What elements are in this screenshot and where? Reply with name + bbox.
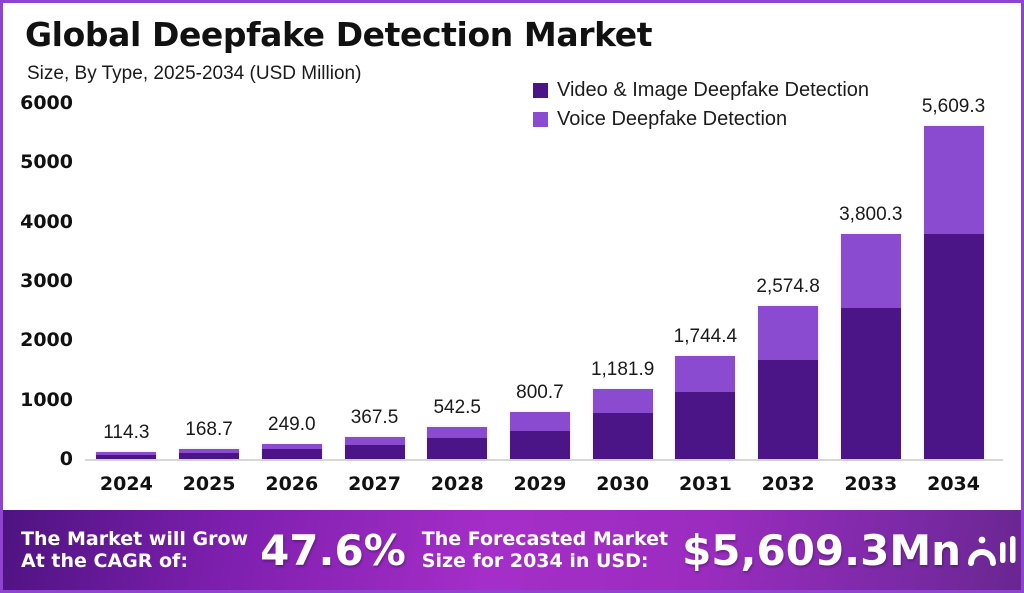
bar-value-label: 542.5 xyxy=(433,397,481,419)
bar-group[interactable]: 2,574.8 xyxy=(756,103,821,459)
y-axis-tick: 4000 xyxy=(20,211,73,233)
page-title: Global Deepfake Detection Market xyxy=(25,15,652,54)
bar-segment-video-image[interactable] xyxy=(510,431,570,460)
bar-stack[interactable] xyxy=(924,126,984,459)
bar-value-label: 168.7 xyxy=(185,419,233,441)
bar-segment-voice[interactable] xyxy=(427,427,487,438)
x-axis-tick: 2027 xyxy=(342,473,407,503)
y-axis-tick: 3000 xyxy=(20,270,73,292)
bar-segment-voice[interactable] xyxy=(675,356,735,392)
forecast-caption-line2: Size for 2034 in USD: xyxy=(422,550,668,572)
infographic-card: Global Deepfake Detection Market Size, B… xyxy=(0,0,1024,593)
bar-group[interactable]: 367.5 xyxy=(342,103,407,459)
cagr-value: 47.6% xyxy=(260,526,406,575)
bar-group[interactable]: 249.0 xyxy=(259,103,324,459)
bar-stack[interactable] xyxy=(262,444,322,459)
bar-segment-video-image[interactable] xyxy=(427,438,487,459)
bar-series-container: 114.3168.7249.0367.5542.5800.71,181.91,7… xyxy=(85,103,995,459)
x-axis: 2024202520262027202820292030203120322033… xyxy=(85,473,995,503)
legend-item-video-image: Video & Image Deepfake Detection xyxy=(533,79,869,102)
bar-value-label: 1,744.4 xyxy=(674,326,737,348)
wave-chart-icon xyxy=(967,533,1021,567)
bar-stack[interactable] xyxy=(96,452,156,459)
legend-label-video-image: Video & Image Deepfake Detection xyxy=(557,79,869,102)
bar-segment-video-image[interactable] xyxy=(345,445,405,459)
bar-segment-voice[interactable] xyxy=(345,437,405,445)
bar-segment-voice[interactable] xyxy=(924,126,984,233)
y-axis-tick: 2000 xyxy=(20,329,73,351)
bar-value-label: 5,609.3 xyxy=(922,96,985,118)
cagr-caption: The Market will Grow At the CAGR of: xyxy=(21,528,248,573)
x-axis-tick: 2025 xyxy=(177,473,242,503)
bar-segment-voice[interactable] xyxy=(593,389,653,413)
bar-group[interactable]: 1,181.9 xyxy=(590,103,655,459)
bar-segment-video-image[interactable] xyxy=(841,308,901,459)
bar-segment-video-image[interactable] xyxy=(262,449,322,459)
x-axis-tick: 2033 xyxy=(839,473,904,503)
brand-logo: market.us ONE STOP SHOP FOR THE REPORTS xyxy=(967,528,1021,573)
y-axis-tick: 1000 xyxy=(20,389,73,411)
bar-value-label: 3,800.3 xyxy=(839,204,902,226)
bar-group[interactable]: 114.3 xyxy=(94,103,159,459)
bar-value-label: 249.0 xyxy=(268,414,316,436)
bar-value-label: 1,181.9 xyxy=(591,359,654,381)
bar-segment-video-image[interactable] xyxy=(675,392,735,459)
bar-value-label: 367.5 xyxy=(351,407,399,429)
y-axis-tick: 0 xyxy=(60,448,73,470)
bar-segment-voice[interactable] xyxy=(510,412,570,431)
bar-segment-video-image[interactable] xyxy=(179,453,239,460)
cagr-caption-line2: At the CAGR of: xyxy=(21,550,248,572)
plot-area: 114.3168.7249.0367.5542.5800.71,181.91,7… xyxy=(85,103,995,459)
x-axis-tick: 2032 xyxy=(756,473,821,503)
y-axis-tick: 6000 xyxy=(20,92,73,114)
bar-group[interactable]: 800.7 xyxy=(508,103,573,459)
bar-stack[interactable] xyxy=(841,234,901,459)
bar-value-label: 114.3 xyxy=(103,422,149,444)
bar-stack[interactable] xyxy=(758,306,818,459)
y-axis-tick: 5000 xyxy=(20,151,73,173)
bar-group[interactable]: 542.5 xyxy=(425,103,490,459)
bar-group[interactable]: 168.7 xyxy=(177,103,242,459)
bar-segment-video-image[interactable] xyxy=(758,360,818,459)
forecast-caption: The Forecasted Market Size for 2034 in U… xyxy=(422,528,668,573)
bar-stack[interactable] xyxy=(427,427,487,459)
footer-banner: The Market will Grow At the CAGR of: 47.… xyxy=(3,510,1021,590)
bar-stack[interactable] xyxy=(345,437,405,459)
x-axis-tick: 2028 xyxy=(425,473,490,503)
bar-stack[interactable] xyxy=(179,449,239,459)
legend-swatch-icon-video-image xyxy=(533,83,548,98)
forecast-caption-line1: The Forecasted Market xyxy=(422,528,668,550)
bar-stack[interactable] xyxy=(675,356,735,459)
bar-segment-voice[interactable] xyxy=(841,234,901,308)
x-axis-baseline xyxy=(85,459,1003,461)
cagr-caption-line1: The Market will Grow xyxy=(21,528,248,550)
bar-group[interactable]: 3,800.3 xyxy=(839,103,904,459)
bar-segment-video-image[interactable] xyxy=(593,413,653,459)
x-axis-tick: 2029 xyxy=(508,473,573,503)
x-axis-tick: 2031 xyxy=(673,473,738,503)
y-axis: 6000500040003000200010000 xyxy=(3,103,79,459)
x-axis-tick: 2026 xyxy=(259,473,324,503)
bar-group[interactable]: 1,744.4 xyxy=(673,103,738,459)
bar-value-label: 2,574.8 xyxy=(756,276,819,298)
forecast-value: $5,609.3Mn xyxy=(682,526,961,575)
chart-subtitle: Size, By Type, 2025-2034 (USD Million) xyxy=(27,63,361,85)
bar-segment-video-image[interactable] xyxy=(96,455,156,459)
bar-group[interactable]: 5,609.3 xyxy=(921,103,986,459)
x-axis-tick: 2024 xyxy=(94,473,159,503)
bar-segment-video-image[interactable] xyxy=(924,234,984,459)
bar-stack[interactable] xyxy=(593,389,653,459)
bar-value-label: 800.7 xyxy=(516,382,564,404)
bar-stack[interactable] xyxy=(510,412,570,460)
x-axis-tick: 2030 xyxy=(590,473,655,503)
x-axis-tick: 2034 xyxy=(921,473,986,503)
bar-segment-voice[interactable] xyxy=(758,306,818,359)
